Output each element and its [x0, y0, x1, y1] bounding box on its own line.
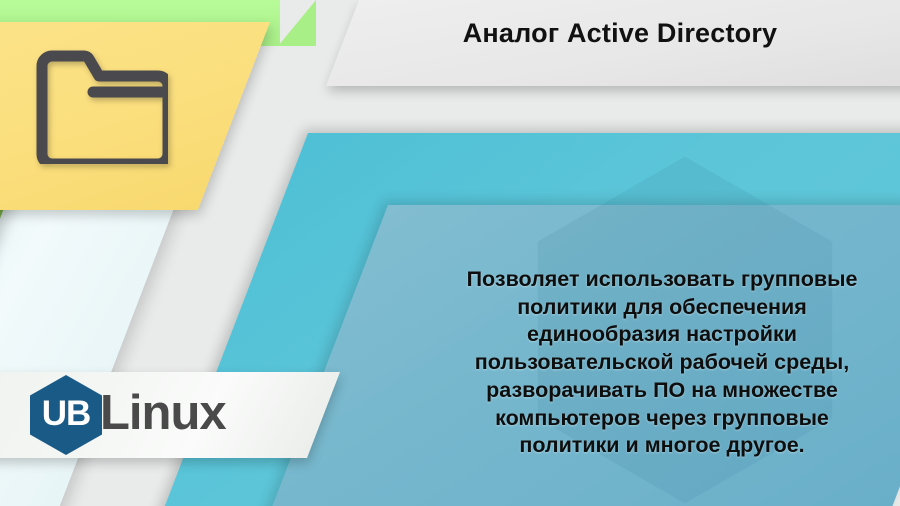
logo-word-text: Linux	[100, 389, 226, 442]
logo: UB Linux	[28, 378, 226, 452]
slide-canvas: Аналог Active Directory UB Linux Позволя…	[0, 0, 900, 506]
page-title: Аналог Active Directory	[340, 18, 900, 49]
hexagon-icon: UB	[28, 374, 104, 456]
folder-icon	[32, 46, 168, 164]
body-paragraph: Позволяет использовать групповые политик…	[452, 266, 872, 460]
logo-mark-text: UB	[28, 374, 104, 456]
